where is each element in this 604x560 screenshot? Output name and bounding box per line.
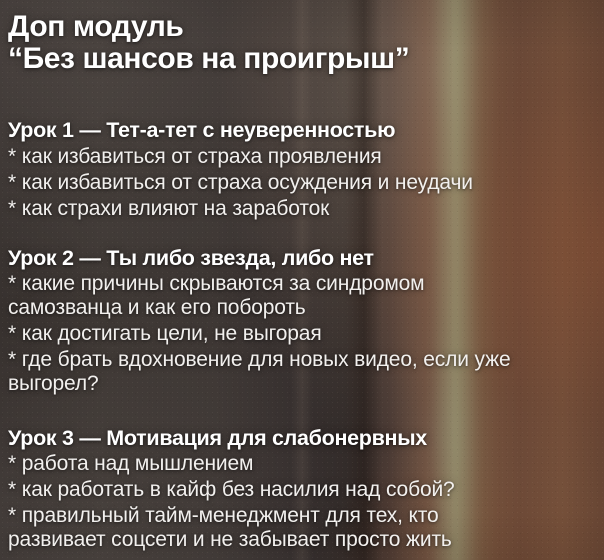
lesson-3-line-1: * работа над мышлением: [8, 452, 253, 476]
poster-title-line-2: “Без шансов на проигрыш”: [8, 40, 409, 78]
lesson-1-line-1: * как избавиться от страха проявления: [8, 145, 382, 169]
lesson-1-heading: Урок 1 — Тет-а-тет с неуверенностью: [8, 118, 395, 142]
lesson-2-line-2: самозванца и как его побороть: [8, 296, 306, 320]
lesson-3-line-2: * как работать в кайф без насилия над со…: [8, 478, 455, 502]
lesson-2-heading: Урок 2 — Ты либо звезда, либо нет: [8, 246, 374, 270]
lesson-2-line-4: * где брать вдохновение для новых видео,…: [8, 348, 511, 372]
lesson-1-line-3: * как страхи влияют на заработок: [8, 197, 329, 221]
lesson-2-line-1: * какие причины скрываются за синдромом: [8, 272, 424, 296]
lesson-3-line-4: развивает соцсети и не забывает просто ж…: [8, 528, 452, 552]
lesson-3-line-3: * правильный тайм-менеджмент для тех, кт…: [8, 504, 439, 528]
promo-poster: Доп модуль “Без шансов на проигрыш” Урок…: [0, 0, 604, 560]
lesson-2-line-3: * как достигать цели, не выгорая: [8, 322, 322, 346]
lesson-1-line-2: * как избавиться от страха осуждения и н…: [8, 171, 473, 195]
lesson-3-heading: Урок 3 — Мотивация для слабонервных: [8, 426, 427, 450]
lesson-2-line-5: выгорел?: [8, 372, 99, 396]
